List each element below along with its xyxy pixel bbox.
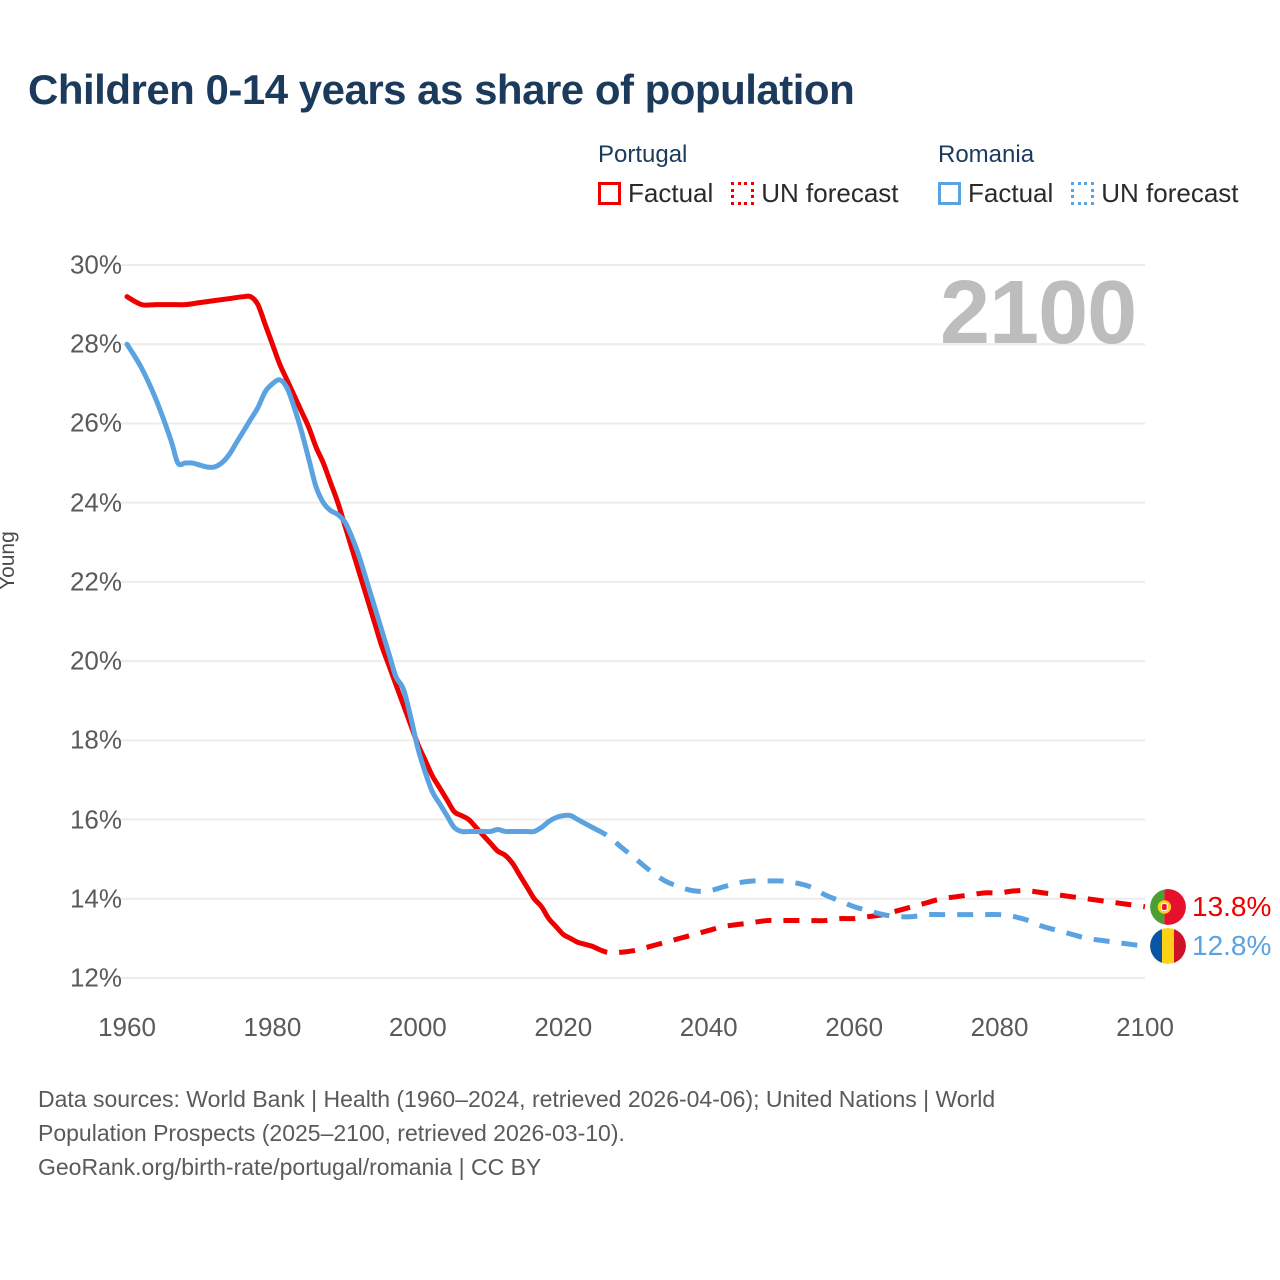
x-tick-label: 1980 [244, 1012, 302, 1043]
footer-line-2: Population Prospects (2025–2100, retriev… [38, 1116, 1218, 1150]
y-tick-label: 30% [50, 250, 122, 281]
footer-line-1: Data sources: World Bank | Health (1960–… [38, 1082, 1218, 1116]
y-tick-label: 28% [50, 329, 122, 360]
y-axis-ticks: 30%28%26%24%22%20%18%16%14%12% [50, 0, 122, 1060]
y-axis-label: Young [0, 531, 20, 590]
series-line-factual-portugal [127, 296, 592, 946]
portugal-flag-icon [1150, 889, 1186, 925]
y-tick-label: 22% [50, 566, 122, 597]
series-line-factual-romania [127, 344, 592, 832]
x-tick-label: 2000 [389, 1012, 447, 1043]
y-tick-label: 12% [50, 963, 122, 994]
y-tick-label: 16% [50, 804, 122, 835]
y-tick-label: 14% [50, 883, 122, 914]
watermark-year: 2100 [940, 268, 1136, 358]
x-tick-label: 2040 [680, 1012, 738, 1043]
end-label-portugal: 13.8% [1150, 889, 1271, 925]
chart-svg [0, 0, 1280, 1060]
series-line-forecast-romania [592, 827, 1145, 946]
x-axis-ticks: 19601980200020202040206020802100 [0, 1012, 1280, 1052]
chart-gridlines [115, 265, 1145, 978]
chart-footer: Data sources: World Bank | Health (1960–… [38, 1082, 1218, 1184]
chart-series-layer [127, 296, 1145, 953]
end-value-romania: 12.8% [1192, 930, 1271, 962]
y-tick-label: 26% [50, 408, 122, 439]
chart-page: Children 0-14 years as share of populati… [0, 0, 1280, 1280]
x-tick-label: 2020 [534, 1012, 592, 1043]
footer-line-3: GeoRank.org/birth-rate/portugal/romania … [38, 1150, 1218, 1184]
x-tick-label: 2100 [1116, 1012, 1174, 1043]
end-value-portugal: 13.8% [1192, 891, 1271, 923]
y-tick-label: 24% [50, 487, 122, 518]
y-tick-label: 20% [50, 646, 122, 677]
x-tick-label: 1960 [98, 1012, 156, 1043]
series-line-forecast-portugal [592, 891, 1145, 953]
x-tick-label: 2080 [971, 1012, 1029, 1043]
y-tick-label: 18% [50, 725, 122, 756]
x-tick-label: 2060 [825, 1012, 883, 1043]
chart-plot-area [0, 0, 1280, 1060]
romania-flag-icon [1150, 928, 1186, 964]
end-label-romania: 12.8% [1150, 928, 1271, 964]
